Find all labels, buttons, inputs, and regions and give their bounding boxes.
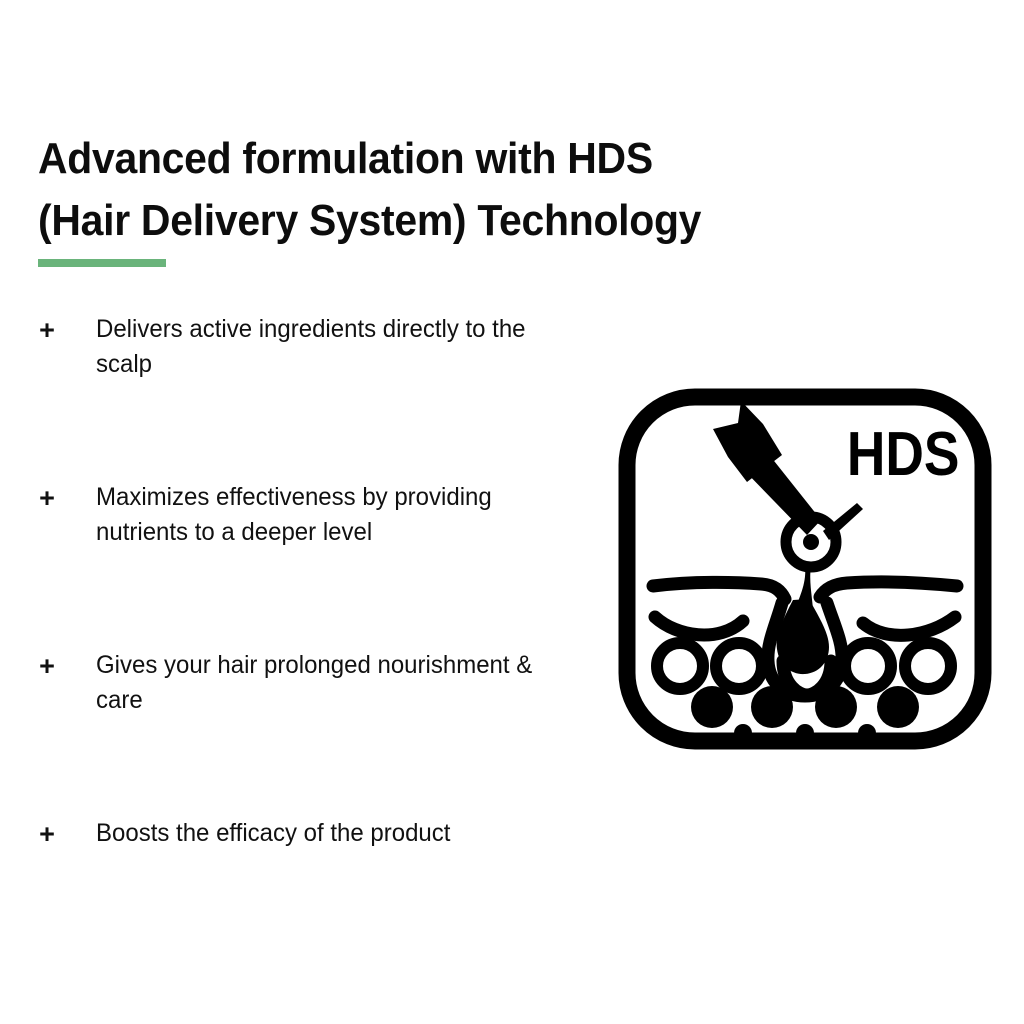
page-title-line-2: (Hair Delivery System) Technology <box>38 190 856 252</box>
slide-root: Advanced formulation with HDS (Hair Deli… <box>0 0 1024 1024</box>
hds-follicle-icon: HDS <box>615 385 995 753</box>
feature-list: + Delivers active ingredients directly t… <box>0 312 620 872</box>
page-title: Advanced formulation with HDS (Hair Deli… <box>38 128 918 252</box>
particle-small-icon <box>734 724 752 742</box>
accent-underline <box>38 259 166 267</box>
pore-outline-icon <box>905 643 951 689</box>
particle-large-icon <box>691 686 733 728</box>
particle-large-icon <box>751 686 793 728</box>
pore-outline-icon <box>716 643 762 689</box>
pore-outline-icon <box>657 643 703 689</box>
plus-icon: + <box>36 482 58 514</box>
particle-small-icon <box>796 724 814 742</box>
list-item-label: Delivers active ingredients directly to … <box>96 312 576 382</box>
plus-icon: + <box>36 650 58 682</box>
plus-icon: + <box>36 314 58 346</box>
dermis-line-left-icon <box>655 617 743 635</box>
particle-large-icon <box>815 686 857 728</box>
skin-surface-left-icon <box>653 582 785 599</box>
list-item: + Delivers active ingredients directly t… <box>0 312 620 382</box>
list-item: + Gives your hair prolonged nourishment … <box>0 648 620 718</box>
plus-icon: + <box>36 818 58 850</box>
list-item-label: Maximizes effectiveness by providing nut… <box>96 480 576 550</box>
dermis-line-right-icon <box>863 617 955 635</box>
particle-small-icon <box>858 724 876 742</box>
list-item-label: Gives your hair prolonged nourishment & … <box>96 648 576 718</box>
list-item-label: Boosts the efficacy of the product <box>96 816 576 851</box>
list-item: + Boosts the efficacy of the product <box>0 816 620 872</box>
page-title-line-1: Advanced formulation with HDS <box>38 128 856 190</box>
pore-outline-icon <box>845 643 891 689</box>
ring-center-dot-icon <box>803 534 819 550</box>
particle-large-icon <box>877 686 919 728</box>
hds-label: HDS <box>847 420 960 489</box>
list-item: + Maximizes effectiveness by providing n… <box>0 480 620 550</box>
skin-surface-right-icon <box>820 582 957 597</box>
